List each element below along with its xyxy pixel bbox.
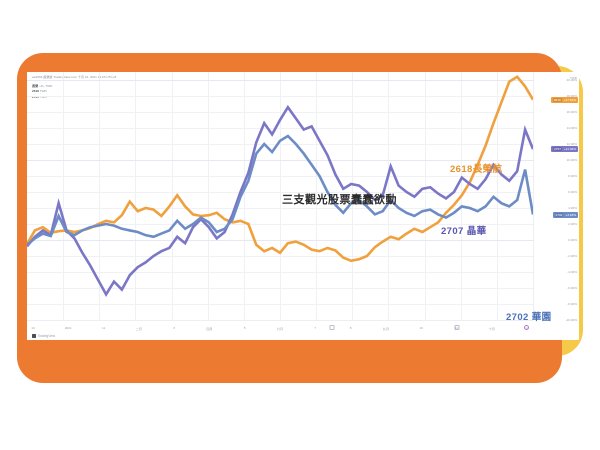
price-scale-tick: 20.00% — [567, 78, 578, 82]
time-axis-label: 3 — [173, 326, 175, 330]
price-scale-tick: 4.00% — [568, 206, 577, 210]
time-axis-label: 2021 — [65, 326, 72, 330]
price-scale-tick: -4.00% — [567, 270, 577, 274]
image-source-caption: 圖片來源：TradingView — [47, 413, 143, 425]
tradingview-chart-panel[interactable]: aa1503 長榮航 TradingView.com 十月 12, 2021 1… — [27, 72, 579, 340]
price-scale-tick: 14.00% — [567, 126, 578, 130]
earnings-flag-marker[interactable] — [330, 325, 335, 330]
price-scale-tick: -10.00% — [565, 318, 577, 322]
time-axis-label: 10 — [31, 326, 34, 330]
badge-value: +3.18% — [565, 213, 576, 217]
time-axis-label: 二月 — [136, 326, 142, 331]
price-scale-tick: 16.00% — [567, 110, 578, 114]
series-label-2702: 2702 華園 — [506, 309, 552, 323]
price-scale-tick: -6.00% — [567, 286, 577, 290]
chart-plot-area[interactable] — [27, 72, 533, 320]
time-axis-label: 九月 — [383, 326, 389, 331]
price-scale-tick: 8.00% — [568, 174, 577, 178]
screenshot-root: 圖片來源：TradingView aa1503 長榮航 TradingView.… — [0, 0, 600, 450]
price-scale-tick: 6.00% — [568, 190, 577, 194]
price-scale-badge-2702[interactable]: 2702+3.18% — [553, 212, 578, 218]
time-axis-label: 11 — [455, 326, 458, 330]
series-label-2707: 2707 晶華 — [441, 223, 487, 237]
badge-value: +11.36% — [564, 147, 576, 151]
badge-symbol: 2707 — [553, 147, 562, 151]
price-scale-axis[interactable]: TWD20.00%18.00%16.00%14.00%12.00%10.00%8… — [533, 72, 579, 320]
time-axis-label: 8 — [350, 326, 352, 330]
time-axis-label: 12 — [525, 326, 528, 330]
series-lines — [27, 72, 533, 320]
price-scale-badge-2707[interactable]: 2707+11.36% — [551, 146, 578, 152]
time-axis-label: 5 — [244, 326, 246, 330]
price-scale-tick: 10.00% — [567, 158, 578, 162]
time-axis[interactable]: 10202111二月3四月5六月78九月1011十月12 — [27, 320, 533, 340]
price-scale-tick: 2.00% — [568, 222, 577, 226]
price-scale-tick: 0.00% — [568, 238, 577, 242]
price-scale-tick: -8.00% — [567, 302, 577, 306]
price-scale-badge-2618[interactable]: 2618+17.54% — [551, 97, 578, 103]
time-axis-label: 7 — [314, 326, 316, 330]
time-axis-label: 六月 — [277, 326, 283, 331]
badge-symbol: 2702 — [555, 213, 564, 217]
time-axis-label: 十月 — [489, 326, 495, 331]
series-label-2618: 2618長榮航 — [450, 161, 502, 175]
badge-value: +17.54% — [564, 98, 576, 102]
time-axis-label: 四月 — [206, 326, 212, 331]
time-axis-label: 10 — [419, 326, 422, 330]
chart-title-annotation: 三支觀光股票蠢蠢欲動 — [282, 191, 397, 207]
badge-symbol: 2618 — [553, 98, 562, 102]
tradingview-logo-icon — [32, 334, 36, 338]
tradingview-watermark: TradingView — [32, 334, 55, 338]
time-axis-label: 11 — [102, 326, 105, 330]
price-scale-tick: -2.00% — [567, 254, 577, 258]
